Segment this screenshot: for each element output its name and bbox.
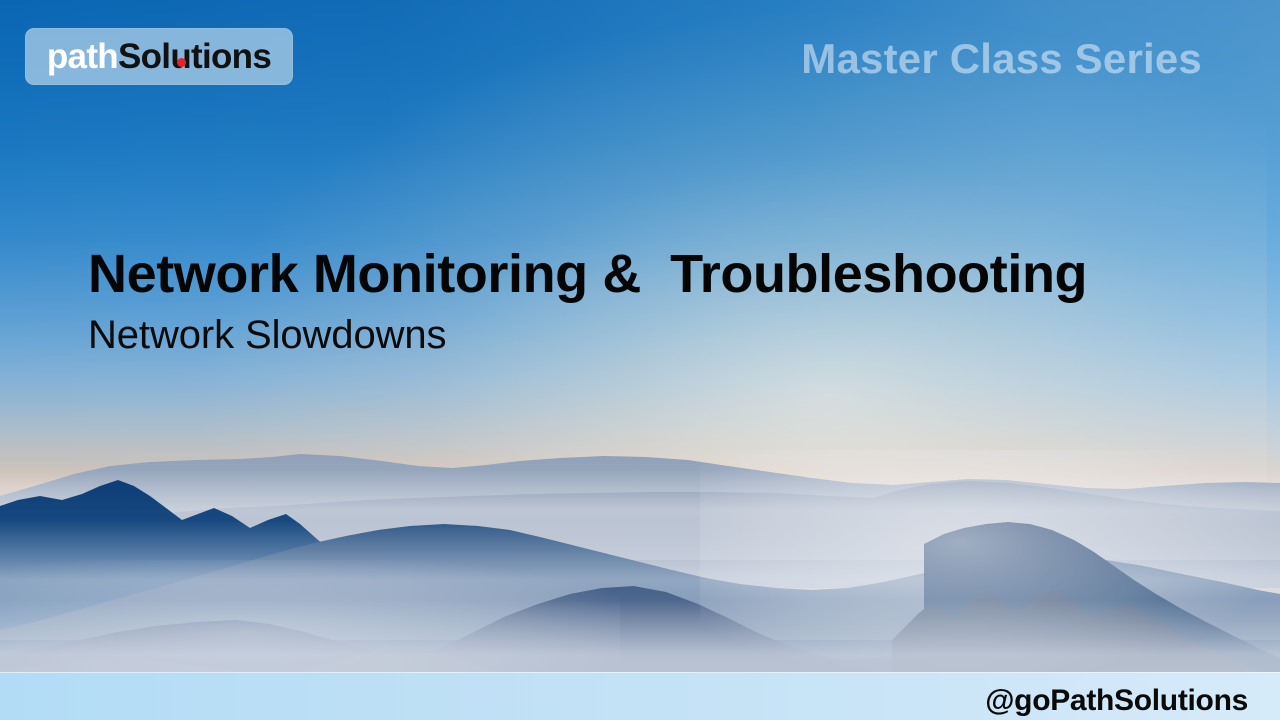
pathsolutions-logo[interactable]: pathSolutions [25,28,293,85]
logo-word-path: path [47,39,118,74]
title-block: Network Monitoring & Troubleshooting Net… [88,246,1208,356]
logo-red-dot-icon [177,58,186,67]
logo-wordmark: pathSolutions [25,28,293,85]
master-class-series-label: Master Class Series [801,38,1202,80]
logo-word-solutions: Solutions [118,39,271,74]
sky-right-tint [0,0,1280,720]
slide-subtitle: Network Slowdowns [88,314,1208,356]
social-handle[interactable]: @goPathSolutions [985,684,1248,717]
presentation-slide: pathSolutions Master Class Series Networ… [0,0,1280,720]
footer-bar: @goPathSolutions [0,672,1280,720]
slide-title: Network Monitoring & Troubleshooting [88,246,1208,302]
